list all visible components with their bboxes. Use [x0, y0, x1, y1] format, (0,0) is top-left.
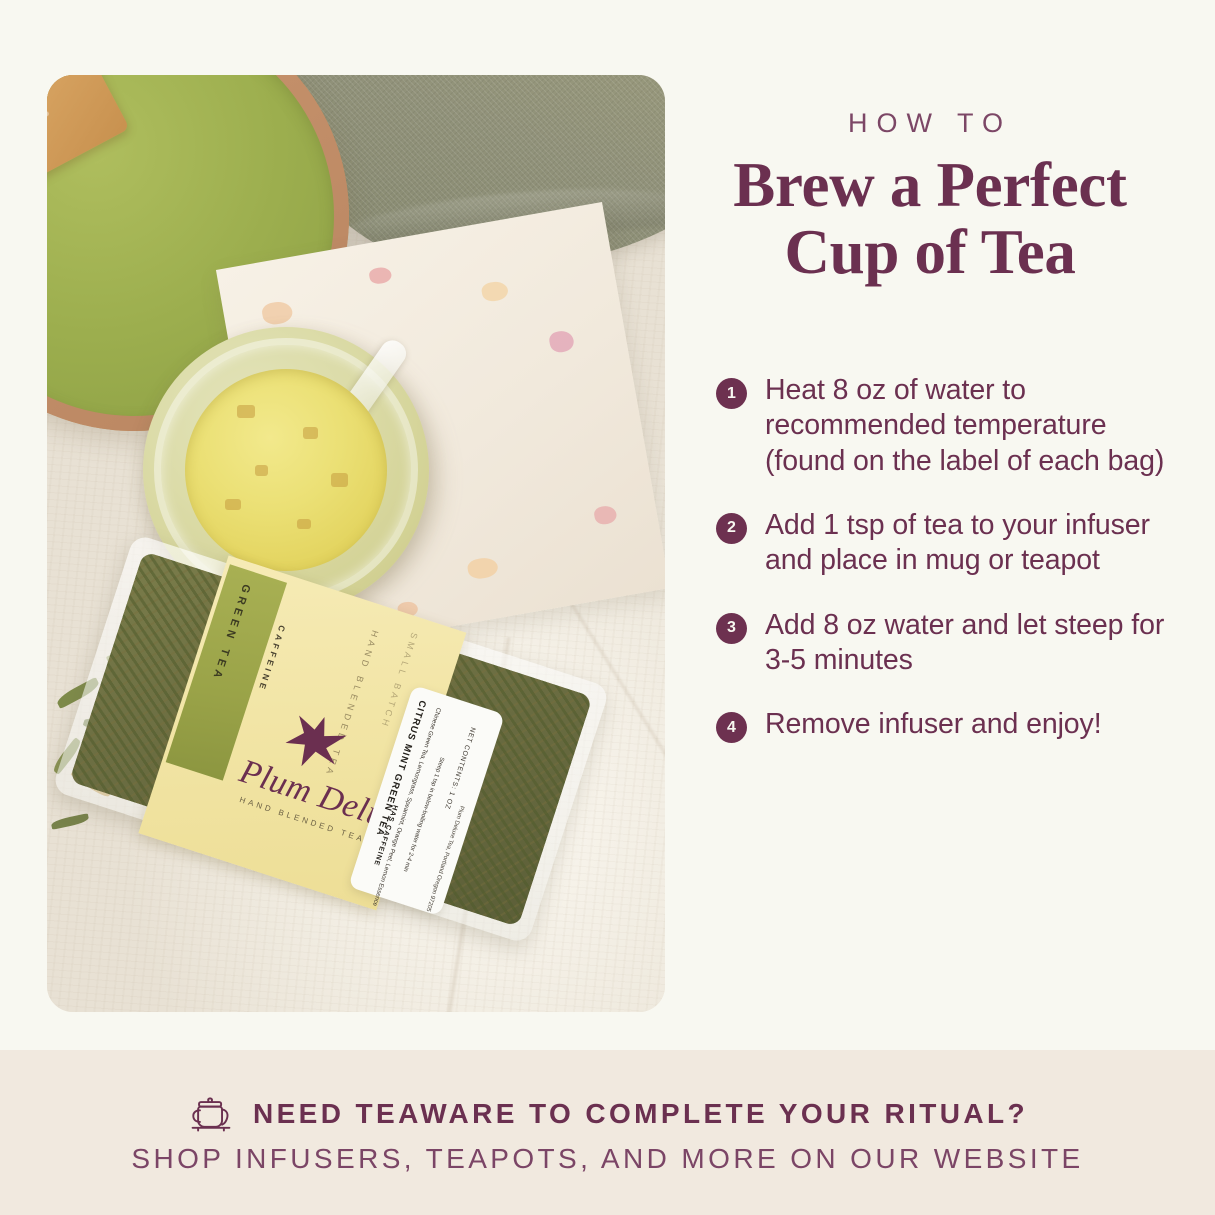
label-net-contents: NET CONTENTS: 1 OZ — [443, 726, 476, 810]
steps-list: 1 Heat 8 oz of water to recommended temp… — [716, 373, 1194, 772]
terrazzo-chip — [593, 504, 618, 526]
tea-particle — [225, 499, 241, 510]
step-number-badge: 3 — [716, 613, 747, 644]
step-item: 1 Heat 8 oz of water to recommended temp… — [716, 373, 1194, 479]
step-text: Remove infuser and enjoy! — [765, 707, 1102, 743]
step-item: 4 Remove infuser and enjoy! — [716, 707, 1194, 743]
tea-particle — [255, 465, 268, 476]
step-number-badge: 4 — [716, 712, 747, 743]
tea-particle — [297, 519, 311, 529]
cta-banner[interactable]: NEED TEAWARE TO COMPLETE YOUR RITUAL? SH… — [0, 1050, 1215, 1215]
kicker-how-to: HOW TO — [690, 108, 1170, 139]
cta-banner-row: NEED TEAWARE TO COMPLETE YOUR RITUAL? — [187, 1091, 1028, 1137]
package-hand-blended-text: HAND BLENDED TEA — [323, 629, 380, 779]
step-item: 3 Add 8 oz water and let steep for 3-5 m… — [716, 608, 1194, 679]
step-number-badge: 1 — [716, 378, 747, 409]
title-line-1: Brew a Perfect — [690, 152, 1170, 219]
title-line-2: Cup of Tea — [690, 219, 1170, 286]
terrazzo-chip — [548, 329, 575, 354]
hero-photo: GREEN TEA CAFFEINE HAND BLENDED TEA SMAL… — [47, 75, 665, 1012]
step-item: 2 Add 1 tsp of tea to your infuser and p… — [716, 508, 1194, 579]
step-text: Heat 8 oz of water to recommended temper… — [765, 373, 1194, 479]
step-text: Add 8 oz water and let steep for 3-5 min… — [765, 608, 1194, 679]
teapot-icon — [187, 1091, 235, 1137]
tea-particle — [237, 405, 255, 418]
step-number-badge: 2 — [716, 513, 747, 544]
terrazzo-chip — [368, 266, 392, 286]
terrazzo-chip — [466, 556, 499, 581]
instructions-panel: HOW TO Brew a Perfect Cup of Tea 1 Heat … — [690, 0, 1215, 1050]
terrazzo-chip — [261, 300, 294, 327]
brewed-tea — [185, 369, 387, 571]
tea-particle — [331, 473, 348, 487]
cta-headline: NEED TEAWARE TO COMPLETE YOUR RITUAL? — [253, 1098, 1028, 1130]
terrazzo-chip — [480, 280, 509, 303]
infographic-page: GREEN TEA CAFFEINE HAND BLENDED TEA SMAL… — [0, 0, 1215, 1215]
cta-subline: SHOP INFUSERS, TEAPOTS, AND MORE ON OUR … — [131, 1143, 1083, 1175]
tea-particle — [303, 427, 318, 439]
step-text: Add 1 tsp of tea to your infuser and pla… — [765, 508, 1194, 579]
page-title: Brew a Perfect Cup of Tea — [690, 152, 1170, 287]
